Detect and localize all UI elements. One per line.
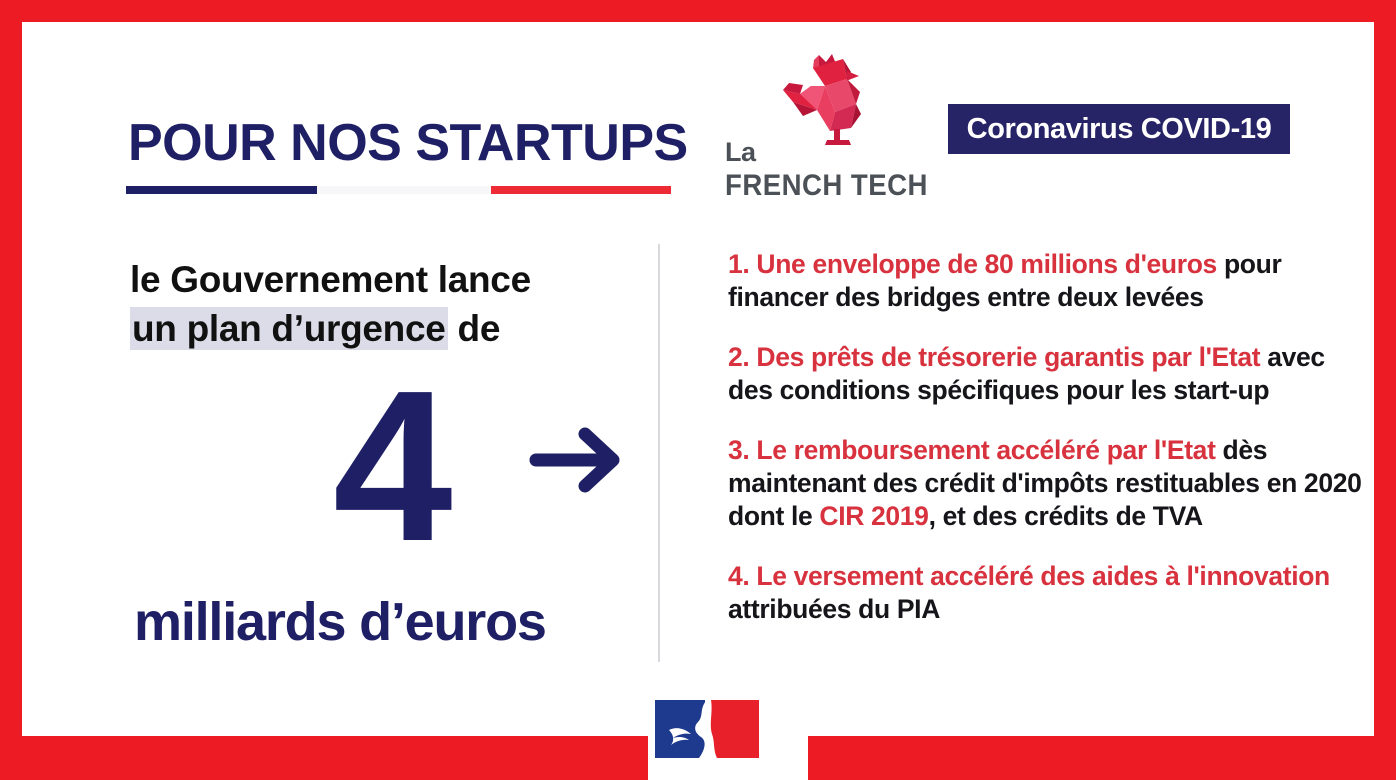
- list-item: 3. Le remboursement accéléré par l'Etat …: [728, 434, 1368, 532]
- tricolor-rule: [126, 186, 671, 194]
- measure-number: 2.: [728, 342, 749, 372]
- french-tech-logo-la: La: [725, 137, 756, 168]
- list-item: 1. Une enveloppe de 80 millions d'euros …: [728, 248, 1368, 313]
- subheadline: le Gouvernement lance un plan d’urgence …: [130, 256, 668, 354]
- measure-body-secondary: , et des crédits de TVA: [929, 501, 1203, 531]
- french-tech-rooster-icon: [773, 52, 865, 152]
- amount-caption: milliards d’euros: [134, 595, 668, 649]
- status-badge-label: Coronavirus COVID-19: [967, 113, 1272, 146]
- measure-emphasis-secondary: CIR 2019: [819, 501, 928, 531]
- rule-segment-red: [491, 186, 671, 194]
- measure-emphasis: Une enveloppe de 80 millions d'euros: [749, 249, 1217, 279]
- rule-segment-white: [317, 186, 491, 194]
- list-item: 4. Le versement accéléré des aides à l'i…: [728, 560, 1368, 625]
- arrow-right-icon: [528, 425, 628, 500]
- amount-row: 4: [108, 370, 668, 585]
- rule-segment-blue: [126, 186, 317, 194]
- list-item: 2. Des prêts de trésorerie garantis par …: [728, 341, 1368, 406]
- page-title: POUR NOS STARTUPS: [108, 82, 668, 169]
- marianne-republique-francaise-logo: [655, 700, 759, 758]
- status-badge: Coronavirus COVID-19: [948, 104, 1290, 154]
- measure-emphasis: Le versement accéléré des aides à l'inno…: [749, 561, 1330, 591]
- poster-card: POUR NOS STARTUPS le Gouvernement lance …: [22, 22, 1374, 736]
- french-tech-logo: La FRENCH TECH: [725, 52, 905, 212]
- measure-number: 1.: [728, 249, 749, 279]
- left-column: POUR NOS STARTUPS le Gouvernement lance …: [108, 82, 668, 702]
- column-divider: [658, 244, 660, 662]
- measures-list: 1. Une enveloppe de 80 millions d'euros …: [728, 248, 1368, 625]
- amount-number: 4: [333, 358, 447, 573]
- subheadline-highlight: un plan d’urgence: [130, 307, 448, 350]
- measure-number: 3.: [728, 435, 749, 465]
- subheadline-line-1: le Gouvernement lance: [130, 256, 668, 305]
- french-tech-logo-name: FRENCH TECH: [725, 169, 928, 203]
- subheadline-tail: de: [448, 308, 501, 349]
- poster-frame: POUR NOS STARTUPS le Gouvernement lance …: [0, 0, 1396, 780]
- measure-emphasis: Le remboursement accéléré par l'Etat: [749, 435, 1215, 465]
- measure-body: attribuées du PIA: [728, 594, 940, 624]
- measure-number: 4.: [728, 561, 749, 591]
- measure-emphasis: Des prêts de trésorerie garantis par l'E…: [749, 342, 1260, 372]
